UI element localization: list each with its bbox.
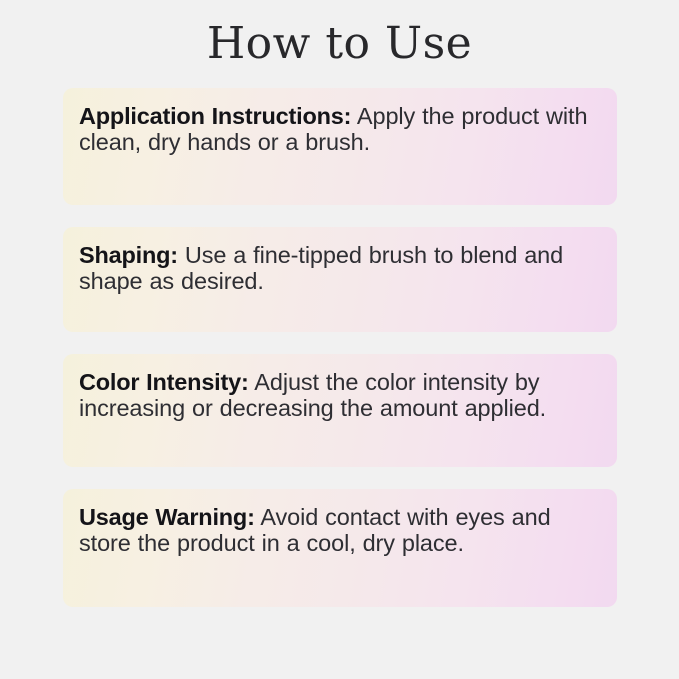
instruction-text: Usage Warning: Avoid contact with eyes a… xyxy=(79,505,599,556)
instruction-label: Application Instructions: xyxy=(79,103,351,129)
instruction-label: Shaping: xyxy=(79,242,178,268)
instruction-text: Shaping: Use a fine-tipped brush to blen… xyxy=(79,243,599,294)
page-title: How to Use xyxy=(0,0,679,72)
how-to-use-page: How to Use Application Instructions: App… xyxy=(0,0,679,679)
instruction-card: Shaping: Use a fine-tipped brush to blen… xyxy=(63,227,617,332)
instruction-label: Color Intensity: xyxy=(79,369,249,395)
instruction-card: Application Instructions: Apply the prod… xyxy=(63,88,617,205)
instruction-text: Application Instructions: Apply the prod… xyxy=(79,104,599,155)
instruction-card: Usage Warning: Avoid contact with eyes a… xyxy=(63,489,617,607)
instruction-label: Usage Warning: xyxy=(79,504,255,530)
instruction-card-list: Application Instructions: Apply the prod… xyxy=(63,88,617,607)
instruction-card: Color Intensity: Adjust the color intens… xyxy=(63,354,617,467)
instruction-text: Color Intensity: Adjust the color intens… xyxy=(79,370,599,421)
